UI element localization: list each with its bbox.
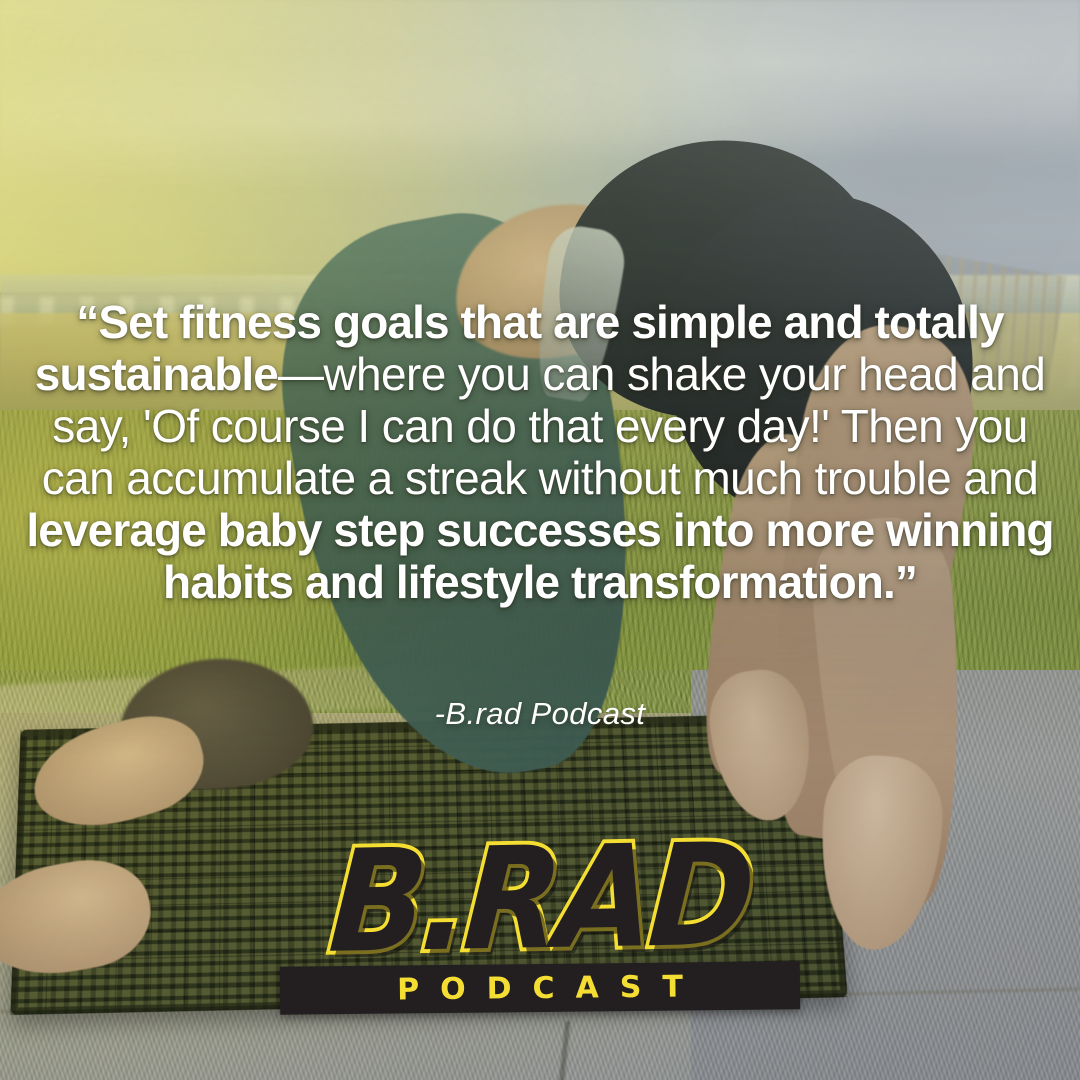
logo-podcast-label: PODCAST — [376, 969, 704, 1007]
quote-text: “Set fitness goals that are simple and t… — [0, 296, 1080, 608]
logo-wordmark: B.RAD — [316, 825, 765, 974]
quote-card: “Set fitness goals that are simple and t… — [0, 0, 1080, 1080]
brad-podcast-logo: B.RAD PODCAST — [0, 836, 1080, 1012]
logo-podcast-bar: PODCAST — [280, 961, 800, 1014]
quote-attribution: -B.rad Podcast — [0, 696, 1080, 732]
quote-segment-bold-closing: leverage baby step successes into more w… — [26, 504, 1053, 608]
